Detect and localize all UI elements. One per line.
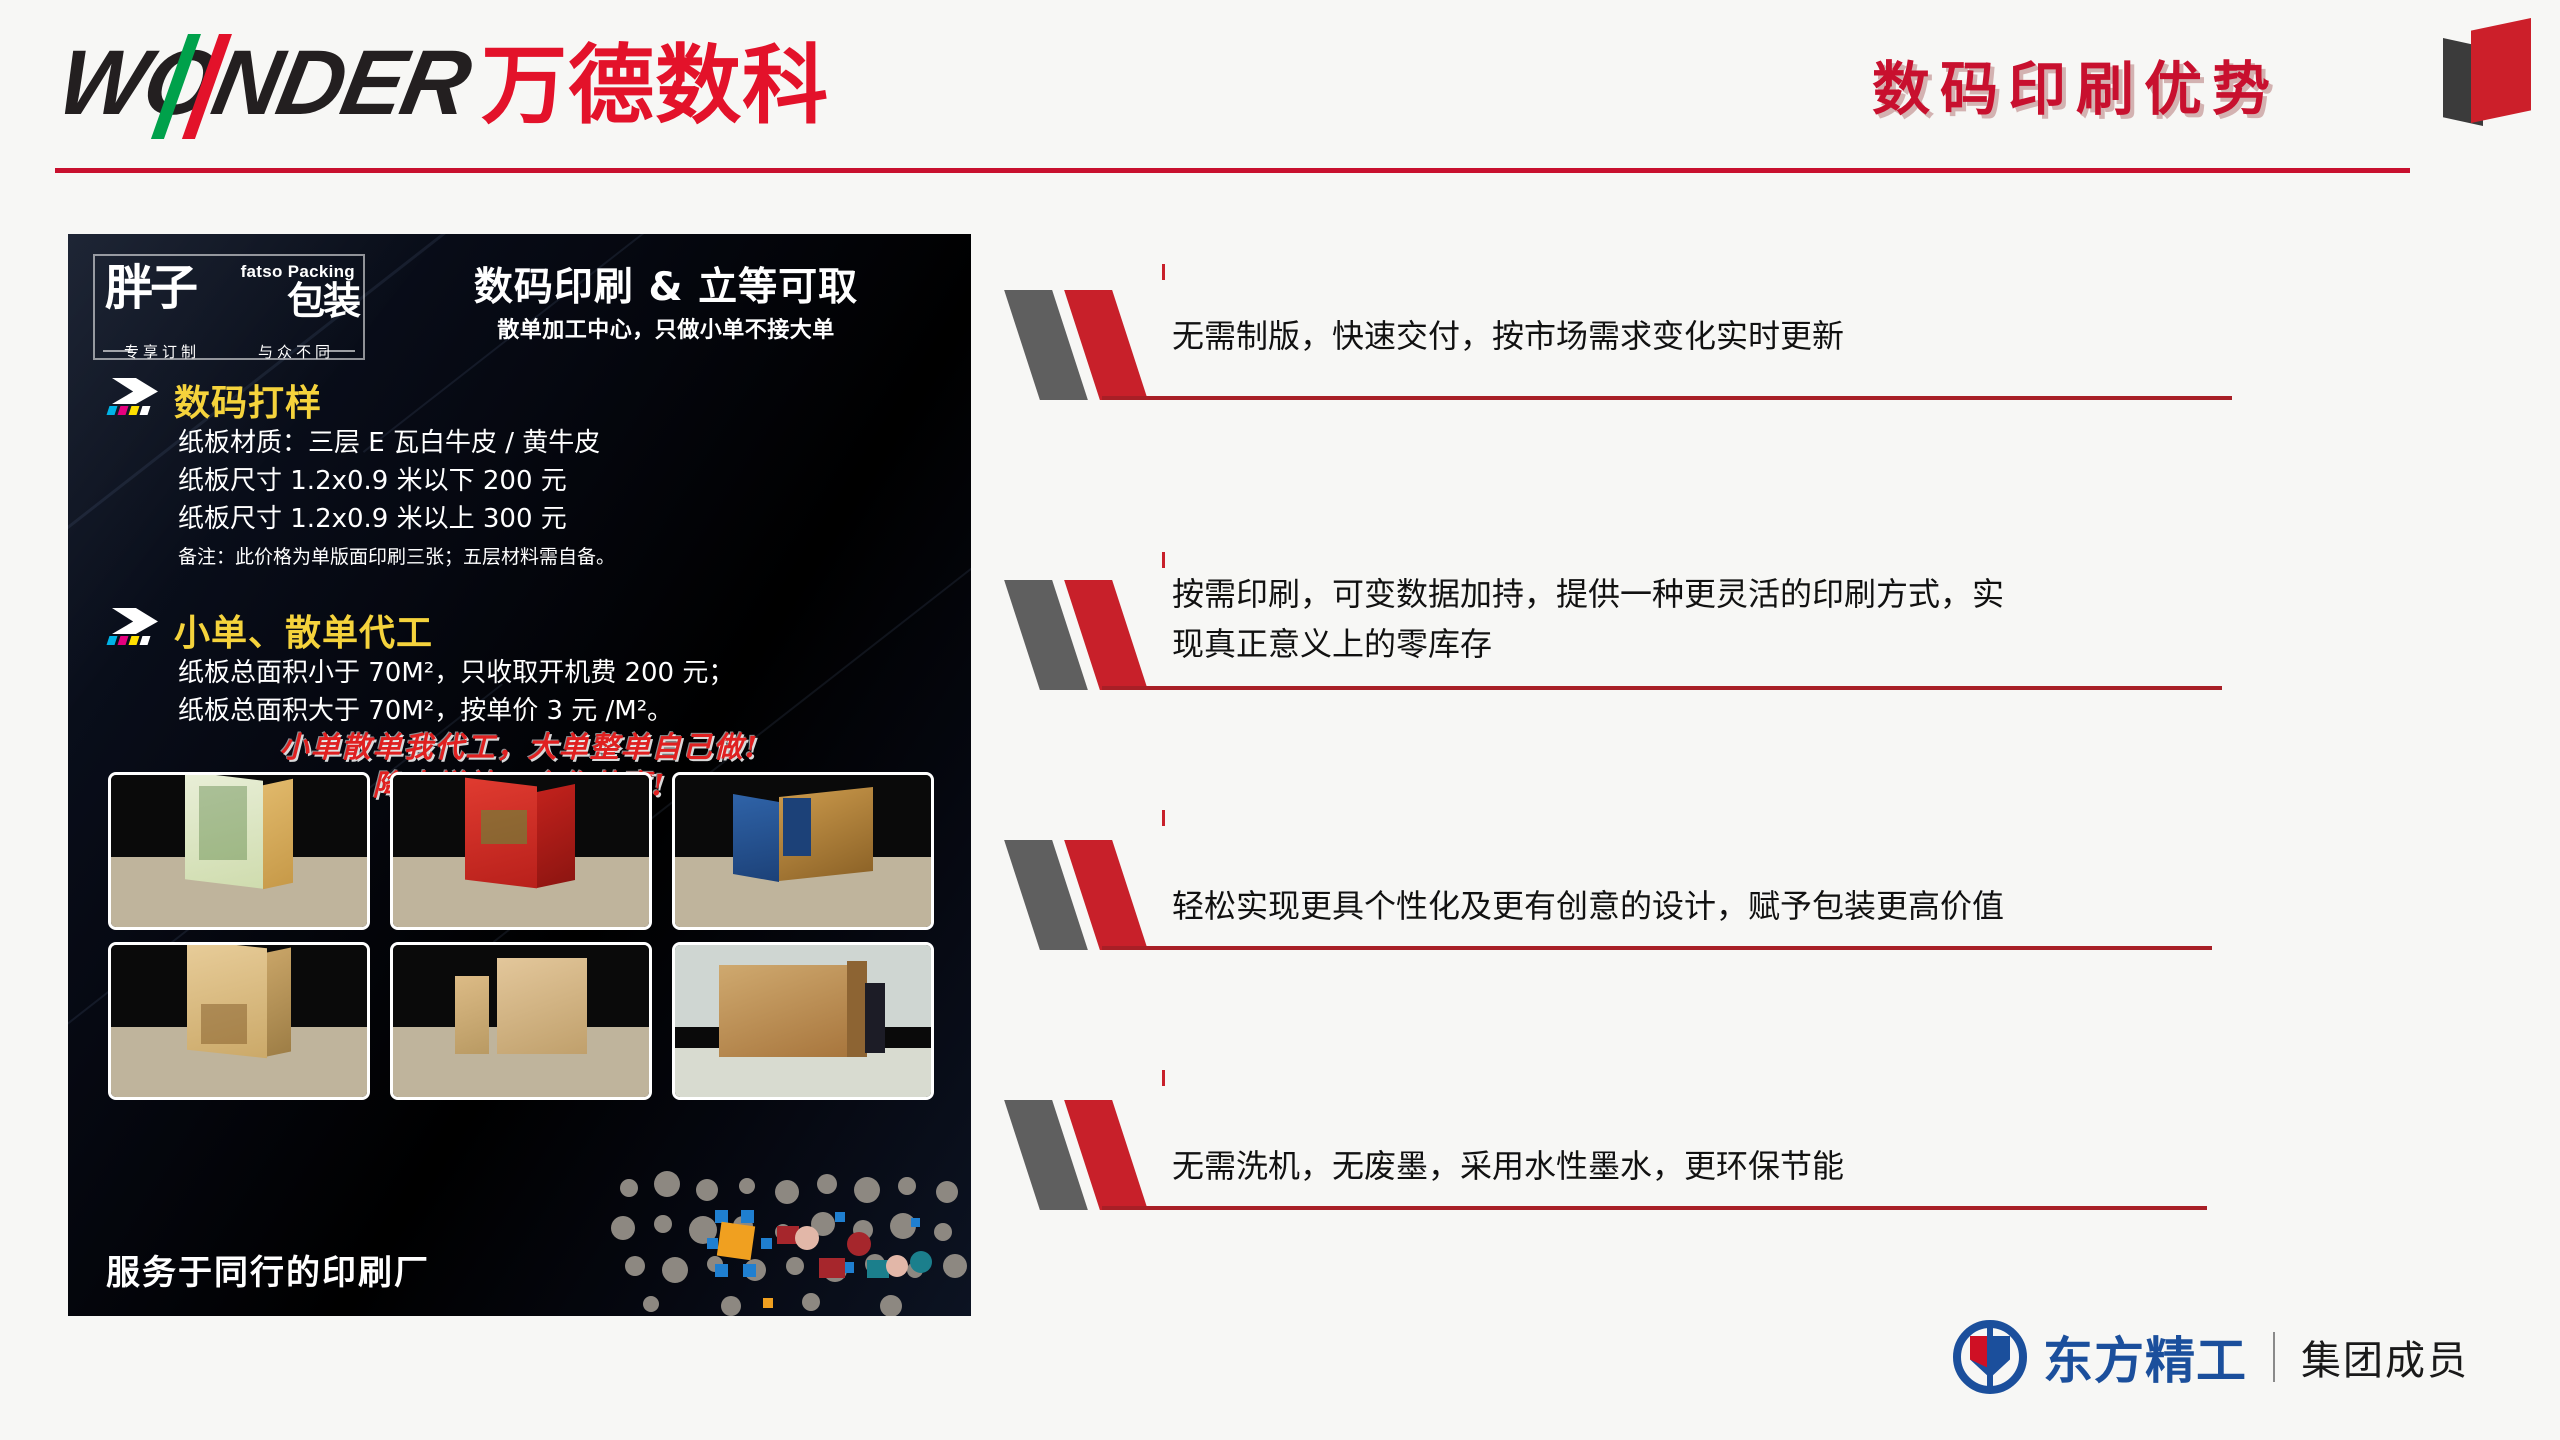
page-header: WONDER 万德数科 数码印刷优势 (0, 0, 2560, 180)
bullet-marker-icon (1010, 840, 1160, 950)
chevron-arrow-icon (106, 608, 166, 654)
section-line: 纸板尺寸 1.2x0.9 米以下 200 元 (178, 464, 567, 499)
chevron-shape (112, 378, 158, 404)
cmyk-dot-yellow (129, 636, 140, 645)
fatso-packing-logo: 胖子 fatso Packing 包装 专享订制 与众不同 (93, 254, 365, 360)
cmyk-dot-white (140, 636, 151, 645)
cmyk-dot-cyan (107, 636, 118, 645)
poster-footer-text: 服务于同行的印刷厂 (106, 1245, 430, 1294)
product-photo (390, 942, 652, 1100)
decorative-dot-pattern (611, 1166, 971, 1316)
advantage-underline (1102, 686, 2222, 690)
cmyk-dot-yellow (129, 406, 140, 415)
fatso-logo-cn: 胖子 (105, 264, 195, 312)
cmyk-dot-magenta (118, 406, 129, 415)
header-divider (55, 168, 2410, 173)
cmyk-dot-magenta (118, 636, 129, 645)
advantage-underline (1102, 1206, 2207, 1210)
bullet-tick-mark (1162, 1070, 1165, 1086)
product-photo (108, 772, 370, 930)
folded-page-icon (2443, 10, 2533, 125)
wonder-brand-logo: WONDER 万德数科 (60, 40, 829, 127)
section-note: 备注：此价格为单版面印刷三张；五层材料需自备。 (178, 542, 615, 569)
tagline-left: 专享订制 (124, 341, 200, 362)
classic-kraft-box (455, 958, 587, 1054)
fatso-taglines: 专享订制 与众不同 (95, 341, 363, 362)
blue-dumpling-box (733, 792, 873, 878)
chevron-arrow-icon (106, 378, 166, 424)
section-title: 小单、散单代工 (174, 604, 433, 656)
kraft-handle-box (187, 944, 291, 1054)
logo-chinese-name: 万德数科 (481, 46, 829, 128)
poster-headline: 数码印刷 & 立等可取 (386, 256, 946, 312)
section-line: 纸板尺寸 1.2x0.9 米以上 300 元 (178, 502, 567, 537)
chevron-shape (112, 608, 158, 634)
large-scenic-box (719, 961, 887, 1057)
cmyk-dot-white (140, 406, 151, 415)
advantage-text: 按需印刷，可变数据加持，提供一种更灵活的印刷方式，实 现真正意义上的零库存 (1172, 570, 2004, 669)
cmyk-dot-cyan (107, 406, 118, 415)
product-photo (108, 942, 370, 1100)
poster-slogan-line-1: 小单散单我代工，大单整单自己做! (68, 724, 971, 766)
bullet-marker-icon (1010, 580, 1160, 690)
page-title: 数码印刷优势 (1872, 42, 2280, 126)
product-photo-grid (108, 772, 934, 1100)
section-line: 纸板总面积小于 70M²，只收取开机费 200 元； (178, 656, 734, 691)
red-gift-box (465, 780, 577, 884)
honey-gift-box (185, 776, 293, 884)
section-line: 纸板材质：三层 E 瓦白牛皮 / 黄牛皮 (178, 426, 600, 461)
group-member-label: 集团成员 (2301, 1328, 2469, 1386)
bullet-tick-mark (1162, 552, 1165, 568)
poster-subheadline: 散单加工中心，只做小单不接大单 (386, 312, 946, 344)
bullet-marker-icon (1010, 1100, 1160, 1210)
tagline-right: 与众不同 (258, 341, 334, 362)
section-title: 数码打样 (174, 374, 322, 426)
dongfang-f-emblem-icon (1953, 1320, 2027, 1394)
promo-poster-image: 胖子 fatso Packing 包装 专享订制 与众不同 数码印刷 & 立等可… (68, 234, 971, 1316)
logo-separator (2273, 1332, 2275, 1382)
bullet-marker-icon (1010, 290, 1160, 400)
advantage-underline (1102, 396, 2232, 400)
bullet-tick-mark (1162, 810, 1165, 826)
bullet-tick-mark (1162, 264, 1165, 280)
advantage-underline (1102, 946, 2212, 950)
emblem-stem (1987, 1324, 1993, 1390)
dongfang-group-logo: 东方精工 集团成员 (1953, 1320, 2469, 1394)
product-photo (672, 942, 934, 1100)
advantage-text: 无需洗机，无废墨，采用水性墨水，更环保节能 (1172, 1142, 1844, 1192)
product-photo (672, 772, 934, 930)
advantage-text: 轻松实现更具个性化及更有创意的设计，赋予包装更高价值 (1172, 882, 2004, 932)
product-photo (390, 772, 652, 930)
advantage-text: 无需制版，快速交付，按市场需求变化实时更新 (1172, 312, 1844, 362)
logo-wordmark: WONDER (52, 40, 476, 127)
folded-page-front-panel (2471, 18, 2531, 123)
dongfang-name: 东方精工 (2043, 1321, 2247, 1393)
fatso-logo-cn2: 包装 (287, 282, 359, 320)
